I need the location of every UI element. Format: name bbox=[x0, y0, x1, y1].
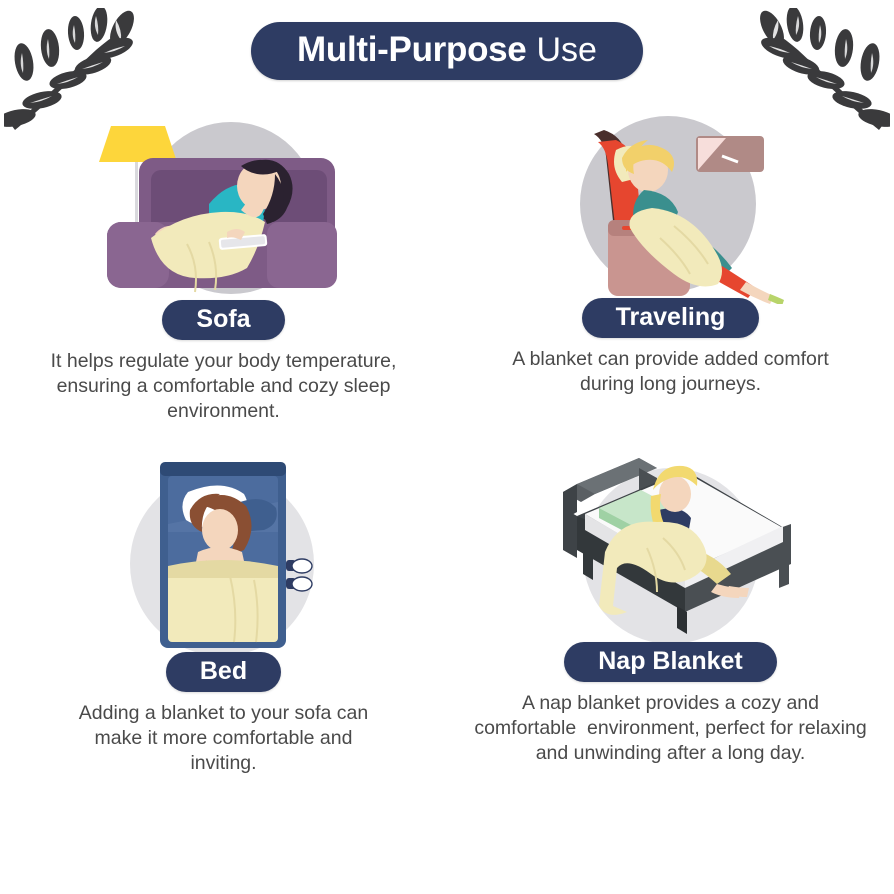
card-caption-bed: Adding a blanket to your sofa can make i… bbox=[64, 701, 384, 776]
card-caption-traveling: A blanket can provide added comfort duri… bbox=[506, 347, 836, 397]
feature-card-bed: Bed Adding a blanket to your sofa can ma… bbox=[0, 456, 447, 800]
illustration-nap-blanket bbox=[541, 456, 801, 648]
card-caption-nap-blanket: A nap blanket provides a cozy and comfor… bbox=[471, 691, 871, 766]
card-label-bed: Bed bbox=[166, 652, 281, 692]
feature-card-traveling: Traveling A blanket can provide added co… bbox=[447, 112, 894, 456]
card-caption-sofa: It helps regulate your body temperature,… bbox=[34, 349, 414, 424]
feature-grid: Sofa It helps regulate your body tempera… bbox=[0, 112, 894, 800]
card-label-sofa: Sofa bbox=[162, 300, 284, 340]
feature-card-nap-blanket: Nap Blanket A nap blanket provides a coz… bbox=[447, 456, 894, 800]
illustration-bed bbox=[104, 456, 344, 654]
card-label-nap-blanket: Nap Blanket bbox=[564, 642, 776, 682]
illustration-sofa bbox=[91, 112, 351, 304]
title-light: Use bbox=[536, 33, 596, 67]
title-strong: Multi-Purpose bbox=[297, 32, 526, 67]
title-pill: Multi-Purpose Use bbox=[251, 22, 643, 80]
card-label-traveling: Traveling bbox=[582, 298, 760, 338]
feature-card-sofa: Sofa It helps regulate your body tempera… bbox=[0, 112, 447, 456]
page-title: Multi-Purpose Use bbox=[0, 22, 894, 80]
illustration-traveling bbox=[546, 112, 796, 304]
